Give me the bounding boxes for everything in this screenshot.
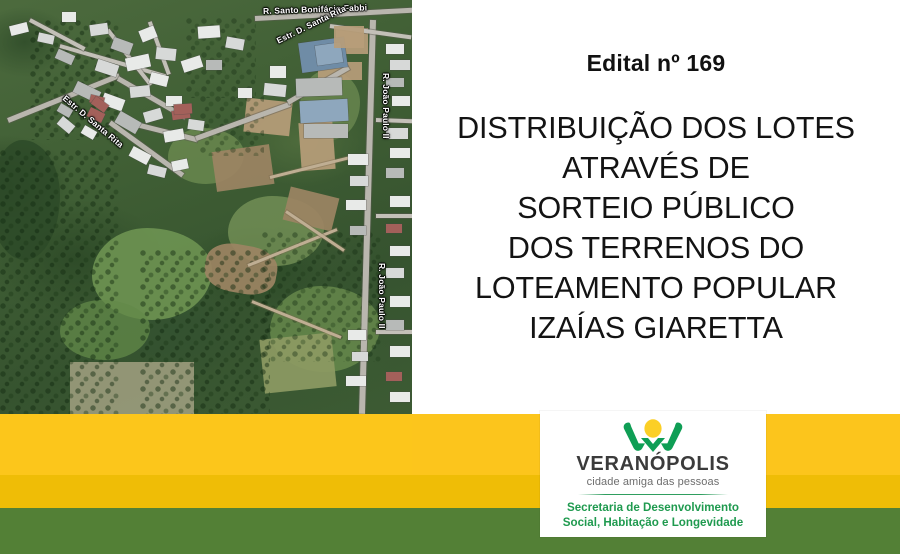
aerial-map-image: R. Santo Bonifácio Fabbi Estr. D. Santa … [0, 0, 412, 414]
map-building [155, 47, 176, 61]
headline-line-6: IZAÍAS GIARETTA [412, 309, 900, 349]
announcement-text-panel: Edital nº 169 DISTRIBUIÇÃO DOS LOTES ATR… [412, 0, 900, 414]
map-building [352, 352, 368, 361]
map-building [386, 224, 402, 233]
map-building [346, 376, 366, 386]
brand-divider [578, 494, 728, 495]
department-line-2: Social, Habitação e Longevidade [563, 516, 743, 531]
map-building [198, 25, 221, 39]
announcement-headline: DISTRIBUIÇÃO DOS LOTES ATRAVÉS DE SORTEI… [412, 109, 900, 349]
brand-tagline: cidade amiga das pessoas [587, 477, 720, 488]
map-building [390, 346, 410, 357]
map-building [350, 226, 366, 235]
map-building [390, 60, 410, 70]
map-building [392, 96, 410, 106]
poster-canvas: R. Santo Bonifácio Fabbi Estr. D. Santa … [0, 0, 900, 554]
map-building [62, 12, 76, 22]
map-building [206, 60, 222, 70]
headline-line-2: ATRAVÉS DE [412, 149, 900, 189]
map-building [350, 176, 368, 186]
headline-line-5: LOTEAMENTO POPULAR [412, 269, 900, 309]
headline-line-3: SORTEIO PÚBLICO [412, 189, 900, 229]
headline-line-1: DISTRIBUIÇÃO DOS LOTES [412, 109, 900, 149]
map-building [390, 148, 410, 158]
edital-number: Edital nº 169 [587, 52, 726, 75]
department-name: Secretaria de Desenvolvimento Social, Ha… [563, 501, 743, 530]
map-building [346, 200, 366, 210]
map-building-large [296, 77, 343, 97]
map-building [390, 392, 410, 402]
footer-band-yellow-deep-over-map [0, 475, 412, 508]
map-building [390, 196, 410, 207]
map-building-large [299, 99, 348, 123]
map-building-large [304, 124, 348, 138]
map-building [263, 83, 286, 97]
headline-line-4: DOS TERRENOS DO [412, 229, 900, 269]
map-canvas: R. Santo Bonifácio Fabbi Estr. D. Santa … [0, 0, 412, 414]
map-building [390, 246, 410, 256]
map-building [386, 268, 404, 278]
map-building [348, 154, 368, 165]
map-road-local [376, 330, 412, 334]
veranopolis-logo-card: VERANÓPOLIS cidade amiga das pessoas Sec… [540, 411, 766, 537]
map-building [386, 320, 404, 330]
map-building [386, 44, 404, 54]
map-road-local [376, 214, 412, 218]
map-building [238, 88, 252, 98]
map-building [174, 103, 193, 114]
map-building [386, 168, 404, 178]
map-building [129, 85, 150, 98]
map-building [187, 119, 204, 131]
map-building [386, 128, 408, 139]
map-tree-canopy [140, 250, 270, 414]
brand-name: VERANÓPOLIS [576, 454, 729, 474]
map-sports-court [334, 26, 364, 48]
footer-band-yellow-bright-over-map [0, 414, 412, 475]
map-building [386, 78, 404, 87]
map-tree-canopy [0, 150, 120, 414]
department-line-1: Secretaria de Desenvolvimento [563, 501, 743, 516]
map-building [390, 296, 410, 307]
map-building [348, 330, 366, 340]
veranopolis-crest-icon [621, 418, 685, 452]
map-building [270, 66, 286, 78]
map-building [386, 372, 402, 381]
